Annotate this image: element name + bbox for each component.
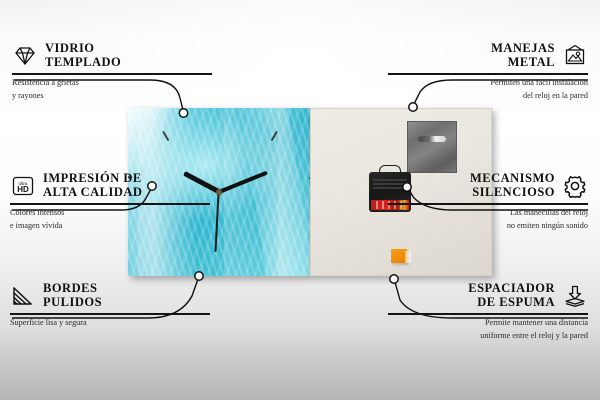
feature-rule — [10, 313, 210, 315]
feature-manejas-metal: MANEJAS METAL Permiten una fácil instala… — [388, 42, 588, 102]
hanger-slot — [418, 136, 446, 142]
feature-title-line1: MANEJAS — [491, 42, 555, 56]
diamond-icon — [12, 44, 38, 68]
hanger-plate — [407, 121, 457, 173]
feature-desc-line1: Las manecillas del reloj — [388, 208, 588, 219]
feature-vidrio-templado: VIDRIO TEMPLADO Resistencia a grietas y … — [12, 42, 212, 102]
feature-title-line1: MECANISMO — [470, 172, 555, 186]
feature-title-line2: METAL — [491, 56, 555, 70]
feature-title-line1: ESPACIADOR — [468, 282, 555, 296]
infographic-canvas: VIDRIO TEMPLADO Resistencia a grietas y … — [0, 0, 600, 400]
feature-title-line2: DE ESPUMA — [468, 296, 555, 310]
feature-title-line1: BORDES — [43, 282, 102, 296]
feature-title-line1: IMPRESIÓN DE — [43, 172, 142, 186]
feature-mecanismo-silencioso: MECANISMO SILENCIOSO Las manecillas del … — [388, 172, 588, 232]
feature-title-line1: VIDRIO — [45, 42, 121, 56]
feature-rule — [388, 203, 588, 205]
feature-impresion-alta-calidad: ultra HD IMPRESIÓN DE ALTA CALIDAD Color… — [10, 172, 210, 232]
feature-title-line2: ALTA CALIDAD — [43, 186, 142, 200]
feature-rule — [388, 313, 588, 315]
clock-tick-major — [258, 229, 310, 231]
feature-title-line2: SILENCIOSO — [470, 186, 555, 200]
feature-desc-line1: Resistencia a grietas — [12, 78, 212, 89]
feature-title-line2: PULIDOS — [43, 296, 102, 310]
feature-desc-line2: e imagen vívida — [10, 221, 210, 232]
feature-rule — [12, 73, 212, 75]
feature-espaciador-de-espuma: ESPACIADOR DE ESPUMA Permite mantener un… — [388, 282, 588, 342]
feature-rule — [388, 73, 588, 75]
hanging-frame-icon — [562, 44, 588, 68]
feature-desc-line2: y rayones — [12, 91, 212, 102]
clock-center-cap — [216, 189, 222, 195]
feature-title-line2: TEMPLADO — [45, 56, 121, 70]
down-arrow-layers-icon — [562, 284, 588, 308]
ultra-hd-icon: ultra HD — [10, 174, 36, 198]
feature-desc-line1: Colores intensos — [10, 208, 210, 219]
foam-spacer — [391, 249, 407, 263]
feature-rule — [10, 203, 210, 205]
feature-desc-line1: Permite mantener una distancia — [388, 318, 588, 329]
feature-desc-line1: Permiten una fácil instalación — [388, 78, 588, 89]
feature-desc-line1: Superficie lisa y segura — [10, 318, 210, 329]
gear-icon — [562, 174, 588, 198]
feature-desc-line2: uniforme entre el reloj y la pared — [388, 331, 588, 342]
polished-edges-icon — [10, 284, 36, 308]
feature-bordes-pulidos: BORDES PULIDOS Superficie lisa y segura — [10, 282, 210, 328]
svg-text:HD: HD — [17, 185, 29, 194]
feature-desc-line2: no emiten ningún sonido — [388, 221, 588, 232]
feature-desc-line2: del reloj en la pared — [388, 91, 588, 102]
